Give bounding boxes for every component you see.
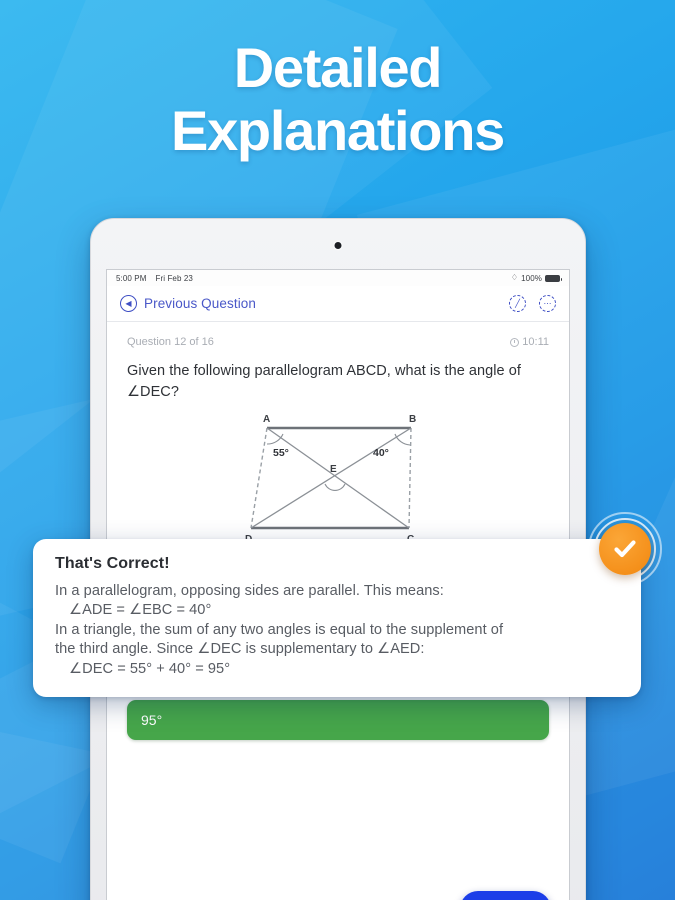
- battery-full-icon: [545, 275, 560, 282]
- question-timer: 10:11: [510, 336, 549, 348]
- status-date: Fri Feb 23: [156, 274, 193, 283]
- angle-label-a: 55°: [273, 447, 289, 459]
- explanation-title: That's Correct!: [55, 555, 619, 573]
- battery-percent: 100%: [521, 274, 542, 283]
- answer-option-correct[interactable]: 95°: [127, 700, 549, 740]
- strikethrough-circle-icon[interactable]: ╱: [509, 295, 526, 312]
- explanation-line-3: In a triangle, the sum of any two angles…: [55, 621, 619, 640]
- front-camera-icon: [335, 242, 342, 249]
- wifi-icon: ♢: [511, 274, 518, 282]
- question-meta: Question 12 of 16 10:11: [127, 336, 549, 348]
- page-title: Detailed Explanations: [0, 36, 675, 163]
- question-prompt: Given the following parallelogram ABCD, …: [127, 361, 549, 402]
- timer-value: 10:11: [522, 336, 549, 348]
- explanation-line-5: ∠DEC = 55° + 40° = 95°: [55, 660, 619, 679]
- question-content: Question 12 of 16 10:11 Given the follow…: [107, 322, 569, 545]
- check-mark-icon: [610, 534, 640, 564]
- question-prompt-line-1: Given the following parallelogram ABCD, …: [127, 363, 505, 379]
- app-navigation-bar: ◀ Previous Question ╱ ⋯: [107, 286, 569, 322]
- explanation-card: That's Correct! In a parallelogram, oppo…: [33, 539, 641, 697]
- explanation-line-4: the third angle. Since ∠DEC is supplemen…: [55, 640, 619, 659]
- angle-label-b: 40°: [373, 447, 389, 459]
- vertex-label-a: A: [263, 414, 270, 425]
- vertex-label-b: B: [409, 414, 416, 425]
- headline-line-2: Explanations: [0, 99, 675, 162]
- check-circle-icon: [599, 523, 651, 575]
- answer-option-label: 95°: [141, 712, 162, 728]
- parallelogram-svg: A B C D E 55° 40°: [233, 410, 443, 545]
- explanation-line-1: In a parallelogram, opposing sides are p…: [55, 582, 619, 601]
- more-options-circle-icon[interactable]: ⋯: [539, 295, 556, 312]
- ios-status-bar: 5:00 PM Fri Feb 23 ♢ 100%: [107, 270, 569, 286]
- clock-icon: [510, 338, 519, 347]
- headline-line-1: Detailed: [234, 36, 441, 99]
- previous-question-label: Previous Question: [144, 296, 256, 311]
- parallelogram-diagram: A B C D E 55° 40°: [127, 410, 549, 545]
- vertex-label-e: E: [330, 464, 337, 475]
- explanation-line-2: ∠ADE = ∠EBC = 40°: [55, 601, 619, 620]
- next-button[interactable]: Next ▶: [460, 891, 551, 900]
- correct-badge: [588, 512, 662, 586]
- back-circle-icon: ◀: [120, 295, 137, 312]
- status-time: 5:00 PM: [116, 274, 147, 283]
- question-counter: Question 12 of 16: [127, 336, 214, 348]
- previous-question-button[interactable]: ◀ Previous Question: [120, 295, 256, 312]
